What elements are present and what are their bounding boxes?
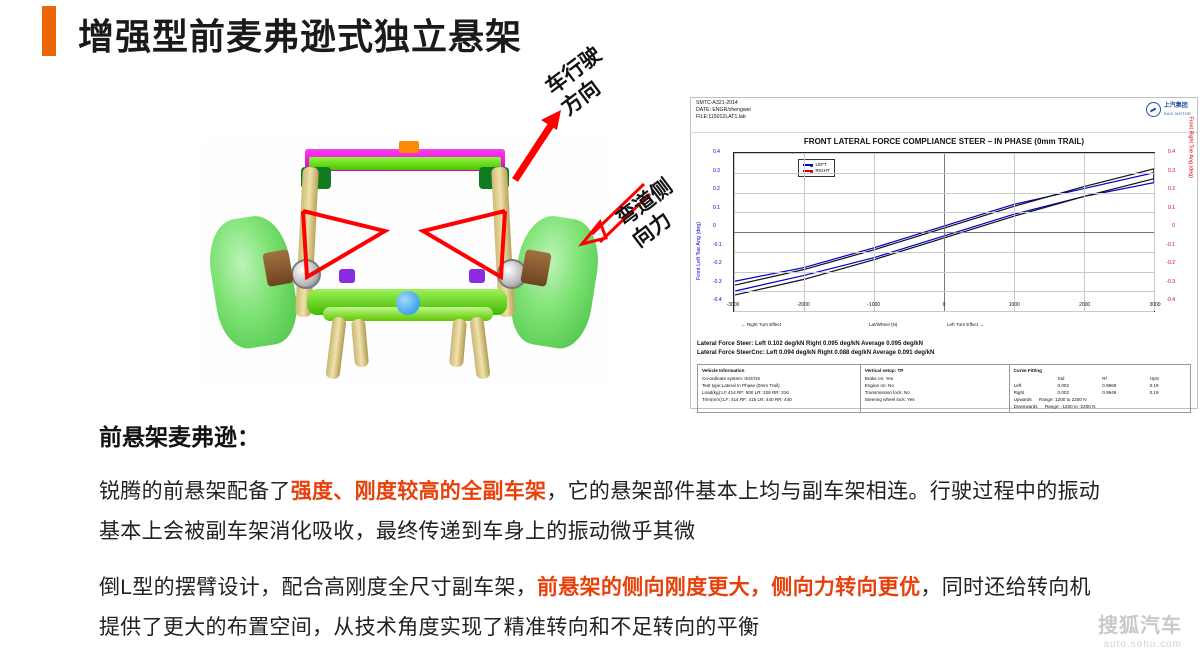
y-tick-right: -0.1 xyxy=(1166,242,1175,248)
y-tick-left: -0.2 xyxy=(713,260,722,266)
grid-line-horizontal xyxy=(734,291,1154,292)
info-col-fitting-header: Curve Fitting xyxy=(1014,367,1186,374)
x-tick: 2000 xyxy=(1079,302,1090,308)
control-arm-highlight-right xyxy=(409,201,519,321)
grid-line-horizontal xyxy=(734,212,1154,213)
slide-root: 增强型前麦弗逊式独立悬架 xyxy=(0,0,1200,664)
grid-line-horizontal xyxy=(734,193,1154,194)
chart-title: FRONT LATERAL FORCE COMPLIANCE STEER – I… xyxy=(691,137,1197,146)
grid-line-horizontal xyxy=(734,153,1154,154)
info-row: Co-ordinate system: ISO/OS xyxy=(702,375,856,382)
fit-cell: Left xyxy=(1014,382,1052,389)
y-tick-right: 0.1 xyxy=(1168,205,1175,211)
info-row: Trim(mm):LF: 414 RF: 415 LR: 440 RR: 440 xyxy=(702,396,856,403)
orange-marker xyxy=(399,141,419,153)
info-row: Brake on: Yes xyxy=(865,375,1005,382)
fit-cell: Right xyxy=(1014,389,1052,396)
range-row-up: Upwards Range: 1200 to 2200 N xyxy=(1014,396,1186,403)
saic-logo-icon xyxy=(1146,102,1161,117)
info-row: Load(kg):LF 414 RF: 500 LR: 326 RR: 316 xyxy=(702,389,856,396)
y-axis-label-right: Front Right Toe Ang (deg) xyxy=(1188,116,1194,178)
driving-direction-arrow xyxy=(505,108,575,188)
range-up-value: Range: 1200 to 2200 N xyxy=(1039,397,1087,402)
fit-header-r2: R² xyxy=(1102,375,1143,382)
y-tick-left: -0.3 xyxy=(713,279,722,285)
grid-line-horizontal xyxy=(734,252,1154,253)
paragraph-2-highlight: 前悬架的侧向刚度更大，侧向力转向更优 xyxy=(537,576,920,599)
y-tick-left: 0 xyxy=(713,223,716,229)
fit-cell: 0.19 xyxy=(1150,382,1186,389)
result-line-1: Lateral Force Steer: Left 0.102 deg/kN R… xyxy=(697,340,1191,349)
range-down-value: Range: -1200 to -2200 N xyxy=(1045,404,1096,409)
report-meta: SMTC-A321-2014 DATE: ENGR/zhengwei FILE:… xyxy=(696,100,751,122)
fit-cell: 0.19 xyxy=(1150,389,1186,396)
info-col-vehicle: Vehicle Information Co-ordinate system: … xyxy=(698,365,861,412)
saic-logo-title: 上汽集团 xyxy=(1164,103,1188,109)
x-note-right: Left Turn Effect → xyxy=(947,322,984,327)
page-title: 增强型前麦弗逊式独立悬架 xyxy=(78,8,522,60)
fit-header-blank xyxy=(1014,375,1052,382)
y-tick-left: 0.3 xyxy=(713,168,720,174)
paragraph-1-highlight: 强度、刚度较高的全副车架 xyxy=(291,480,547,503)
y-tick-right: -0.3 xyxy=(1166,279,1175,285)
grid-line-vertical xyxy=(1154,153,1155,311)
info-col-setup: Vertical setup: TP Brake on: Yes Engine … xyxy=(861,365,1010,412)
fit-cell: 0.002 xyxy=(1058,389,1097,396)
info-row: Engine on: No xyxy=(865,382,1005,389)
result-line-2: Lateral Force SteerCnc: Left 0.094 deg/k… xyxy=(697,349,1191,358)
info-col-vehicle-header: Vehicle Information xyxy=(702,367,856,374)
range-down-label: Downwards xyxy=(1014,404,1038,409)
info-col-setup-header: Vertical setup: TP xyxy=(865,367,1005,374)
grid-line-horizontal xyxy=(734,173,1154,174)
fit-header-hyst: Hyst xyxy=(1150,375,1186,382)
report-meta-line-3: FILE:115012LAT1.lab xyxy=(696,114,751,121)
grid-line-horizontal xyxy=(734,272,1154,273)
x-tick: 0 xyxy=(943,302,946,308)
y-tick-left: 0.4 xyxy=(713,149,720,155)
report-header: SMTC-A321-2014 DATE: ENGR/zhengwei FILE:… xyxy=(691,98,1197,133)
result-summary: Lateral Force Steer: Left 0.102 deg/kN R… xyxy=(697,340,1191,358)
grid-line-horizontal xyxy=(734,232,1154,233)
info-row: Steering wheel lock: Yes xyxy=(865,396,1005,403)
y-tick-right: 0.4 xyxy=(1168,149,1175,155)
y-tick-right: 0.3 xyxy=(1168,168,1175,174)
accent-bar xyxy=(42,6,56,56)
y-tick-left: -0.1 xyxy=(713,242,722,248)
info-row: Test type:Lateral In Phase (0mm Trail) xyxy=(702,382,856,389)
range-up-label: Upwards xyxy=(1014,397,1032,402)
y-tick-right: 0 xyxy=(1172,223,1175,229)
y-tick-left: -0.4 xyxy=(713,297,722,303)
y-tick-right: 0.2 xyxy=(1168,186,1175,192)
plot-canvas: LEFT RIGHT xyxy=(733,152,1155,312)
x-tick: -2000 xyxy=(797,302,810,308)
section-subhead: 前悬架麦弗逊： xyxy=(99,418,260,452)
paragraph-2-part-a: 倒L型的摆臂设计，配合高刚度全尺寸副车架， xyxy=(99,576,537,599)
control-arm-highlight-left xyxy=(289,201,399,321)
paragraph-1-part-a: 锐腾的前悬架配备了 xyxy=(99,480,291,503)
watermark-line-1: 搜狐汽车 xyxy=(1098,609,1182,638)
report-meta-line-1: SMTC-A321-2014 xyxy=(696,100,751,107)
watermark-line-2: auto.sohu.com xyxy=(1098,639,1182,650)
info-row: Transmission lock: No xyxy=(865,389,1005,396)
y-tick-left: 0.1 xyxy=(713,205,720,211)
fit-cell: 0.002 xyxy=(1058,382,1097,389)
x-tick: -3000 xyxy=(727,302,740,308)
paragraph-2: 倒L型的摆臂设计，配合高刚度全尺寸副车架，前悬架的侧向刚度更大，侧向力转向更优，… xyxy=(99,568,1109,648)
fit-cell: 0.9969 xyxy=(1102,382,1143,389)
info-table: Vehicle Information Co-ordinate system: … xyxy=(697,364,1191,413)
test-report-panel: SMTC-A321-2014 DATE: ENGR/zhengwei FILE:… xyxy=(690,97,1198,409)
y-tick-right: -0.4 xyxy=(1166,297,1175,303)
grid-line-horizontal xyxy=(734,311,1154,312)
x-tick: 3000 xyxy=(1149,302,1160,308)
saic-logo-text: 上汽集团 SAIC MOTOR xyxy=(1164,103,1191,117)
range-row-down: Downwards Range: -1200 to -2200 N xyxy=(1014,403,1186,410)
y-axis-label-left: Front Left Toe Ang (deg) xyxy=(696,222,702,280)
report-meta-line-2: DATE: ENGR/zhengwei xyxy=(696,107,751,114)
x-tick: 1000 xyxy=(1009,302,1020,308)
x-note-center: Lat/Wheel (N) xyxy=(869,322,897,327)
fit-grid: Std R² Hyst Left 0.002 0.9969 0.19 Right… xyxy=(1014,375,1186,396)
info-col-fitting: Curve Fitting Std R² Hyst Left 0.002 0.9… xyxy=(1010,365,1190,412)
paragraph-1: 锐腾的前悬架配备了强度、刚度较高的全副车架，它的悬架部件基本上均与副车架相连。行… xyxy=(99,472,1109,552)
y-tick-right: -0.2 xyxy=(1166,260,1175,266)
watermark: 搜狐汽车 auto.sohu.com xyxy=(1098,609,1182,650)
x-note-left: ← Right Turn Effect xyxy=(741,322,781,327)
fit-header-std: Std xyxy=(1058,375,1097,382)
x-tick: -1000 xyxy=(867,302,880,308)
chart-plot-area: Front Left Toe Ang (deg) Front Right Toe… xyxy=(697,150,1191,330)
saic-logo: 上汽集团 SAIC MOTOR xyxy=(1146,102,1191,117)
fit-cell: 0.9949 xyxy=(1102,389,1143,396)
green-upper-bar xyxy=(309,157,501,170)
y-tick-left: 0.2 xyxy=(713,186,720,192)
